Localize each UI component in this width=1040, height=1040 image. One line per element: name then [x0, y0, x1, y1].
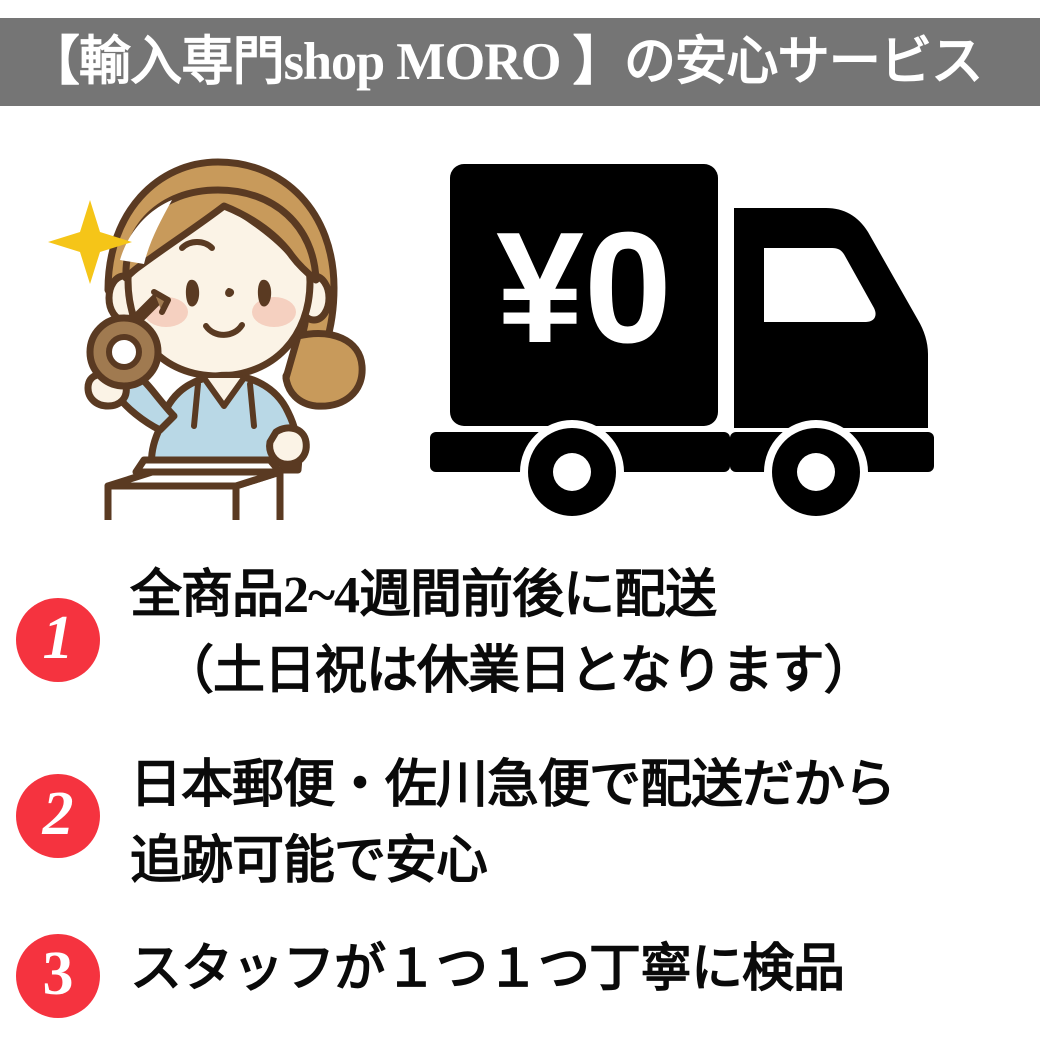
list-item: 2 日本郵便・佐川急便で配送だから 追跡可能で安心 — [0, 748, 1040, 900]
feature-line: 全商品2~4週間前後に配送 — [130, 558, 1040, 634]
feature-line: 日本郵便・佐川急便で配送だから — [130, 748, 1040, 824]
feature-line: （土日祝は休業日となります） — [130, 634, 1040, 710]
badge-number-2: 2 — [16, 774, 100, 858]
feature-list: 1 全商品2~4週間前後に配送 （土日祝は休業日となります） 2 日本郵便・佐川… — [0, 540, 1040, 1018]
badge-number-1: 1 — [16, 598, 100, 682]
feature-line: 追跡可能で安心 — [130, 824, 1040, 900]
truck-cargo-label: ¥0 — [496, 200, 672, 376]
list-item: 1 全商品2~4週間前後に配送 （土日祝は休業日となります） — [0, 558, 1040, 710]
header-banner: 【輸入専門shop MORO 】の安心サービス — [0, 18, 1040, 106]
feature-line: スタッフが１つ１つ丁寧に検品 — [130, 932, 1040, 1008]
feature-text-1: 全商品2~4週間前後に配送 （土日祝は休業日となります） — [100, 558, 1040, 710]
illustration-row: ¥0 — [0, 110, 1040, 525]
feature-text-2: 日本郵便・佐川急便で配送だから 追跡可能で安心 — [100, 748, 1040, 900]
feature-text-3: スタッフが１つ１つ丁寧に検品 — [100, 932, 1040, 1008]
free-shipping-truck-illustration: ¥0 — [412, 142, 1012, 522]
staff-inspecting-package-illustration — [48, 140, 388, 520]
page-title: 【輸入専門shop MORO 】の安心サービス — [0, 18, 982, 106]
list-item: 3 スタッフが１つ１つ丁寧に検品 — [0, 932, 1040, 1018]
badge-number-3: 3 — [16, 934, 100, 1018]
